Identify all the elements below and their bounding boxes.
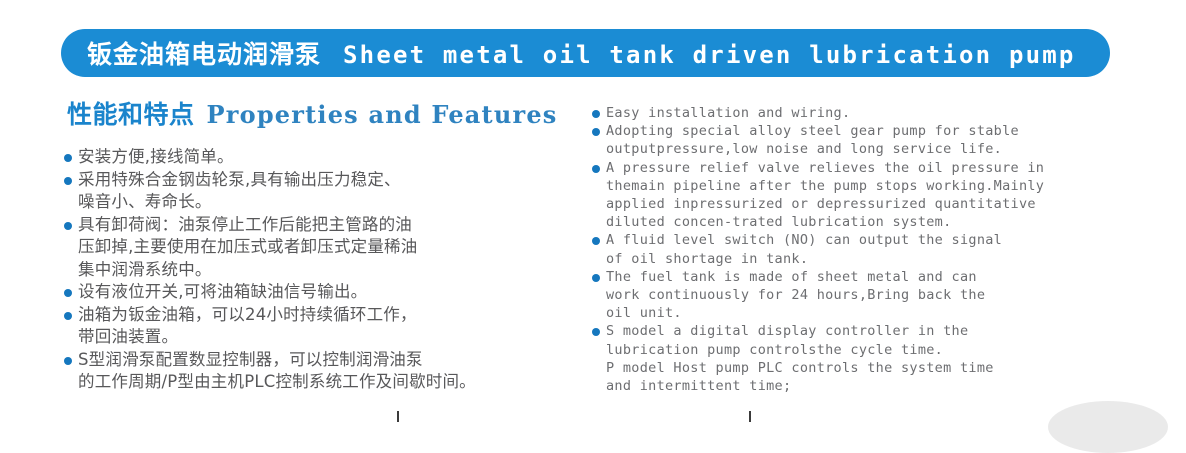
bullet-dot-icon	[64, 177, 72, 185]
list-item: A fluid level switch (NO) can output the…	[592, 231, 1162, 267]
section-heading-chinese: 性能和特点	[67, 95, 195, 131]
section-heading-english: Properties and Features	[207, 100, 558, 129]
list-item: S型润滑泵配置数显控制器，可以控制润滑油泵 的工作周期/P型由主机PLC控制系统…	[64, 349, 564, 394]
list-item: Adopting special alloy steel gear pump f…	[592, 122, 1162, 158]
list-item-text: A pressure relief valve relieves the oil…	[592, 159, 1162, 232]
product-title-english: Sheet metal oil tank driven lubrication …	[343, 41, 1076, 69]
page-edge-tick-right	[749, 411, 751, 422]
list-item-text: 采用特殊合金钢齿轮泵,具有输出压力稳定、 噪音小、寿命长。	[64, 169, 564, 214]
list-item: 安装方便,接线简单。	[64, 146, 564, 169]
features-list-english: Easy installation and wiring. Adopting s…	[592, 104, 1162, 395]
bullet-dot-icon	[592, 274, 600, 282]
product-title-bar: 钣金油箱电动润滑泵 Sheet metal oil tank driven lu…	[61, 29, 1110, 77]
product-title-chinese: 钣金油箱电动润滑泵	[87, 35, 321, 71]
list-item: The fuel tank is made of sheet metal and…	[592, 268, 1162, 323]
product-title: 钣金油箱电动润滑泵 Sheet metal oil tank driven lu…	[61, 35, 1076, 71]
list-item: 具有卸荷阀：油泵停止工作后能把主管路的油 压卸掉,主要使用在加压式或者卸压式定量…	[64, 214, 564, 282]
list-item-text: Easy installation and wiring.	[592, 104, 1162, 122]
list-item-text: 安装方便,接线简单。	[64, 146, 564, 169]
list-item-text: A fluid level switch (NO) can output the…	[592, 231, 1162, 267]
bullet-dot-icon	[64, 154, 72, 162]
bullet-dot-icon	[64, 289, 72, 297]
list-item-text: Adopting special alloy steel gear pump f…	[592, 122, 1162, 158]
list-item: A pressure relief valve relieves the oil…	[592, 159, 1162, 232]
list-item-text: S型润滑泵配置数显控制器，可以控制润滑油泵 的工作周期/P型由主机PLC控制系统…	[64, 349, 564, 394]
list-item-text: 设有液位开关,可将油箱缺油信号输出。	[64, 281, 564, 304]
list-item-text: 具有卸荷阀：油泵停止工作后能把主管路的油 压卸掉,主要使用在加压式或者卸压式定量…	[64, 214, 564, 282]
list-item-text: 油箱为钣金油箱，可以24小时持续循环工作， 带回油装置。	[64, 304, 564, 349]
list-item-text: S model a digital display controller in …	[592, 322, 1162, 395]
list-item: 设有液位开关,可将油箱缺油信号输出。	[64, 281, 564, 304]
bullet-dot-icon	[64, 357, 72, 365]
bullet-dot-icon	[64, 312, 72, 320]
bullet-dot-icon	[592, 110, 600, 118]
page-edge-tick-left	[397, 411, 399, 422]
section-heading: 性能和特点 Properties and Features	[67, 95, 558, 131]
list-item-text: The fuel tank is made of sheet metal and…	[592, 268, 1162, 323]
bullet-dot-icon	[64, 222, 72, 230]
list-item: 油箱为钣金油箱，可以24小时持续循环工作， 带回油装置。	[64, 304, 564, 349]
bullet-dot-icon	[592, 165, 600, 173]
features-list-chinese: 安装方便,接线简单。 采用特殊合金钢齿轮泵,具有输出压力稳定、 噪音小、寿命长。…	[64, 146, 564, 394]
list-item: 采用特殊合金钢齿轮泵,具有输出压力稳定、 噪音小、寿命长。	[64, 169, 564, 214]
page-corner-smudge	[1048, 401, 1168, 453]
list-item: Easy installation and wiring.	[592, 104, 1162, 122]
list-item: S model a digital display controller in …	[592, 322, 1162, 395]
